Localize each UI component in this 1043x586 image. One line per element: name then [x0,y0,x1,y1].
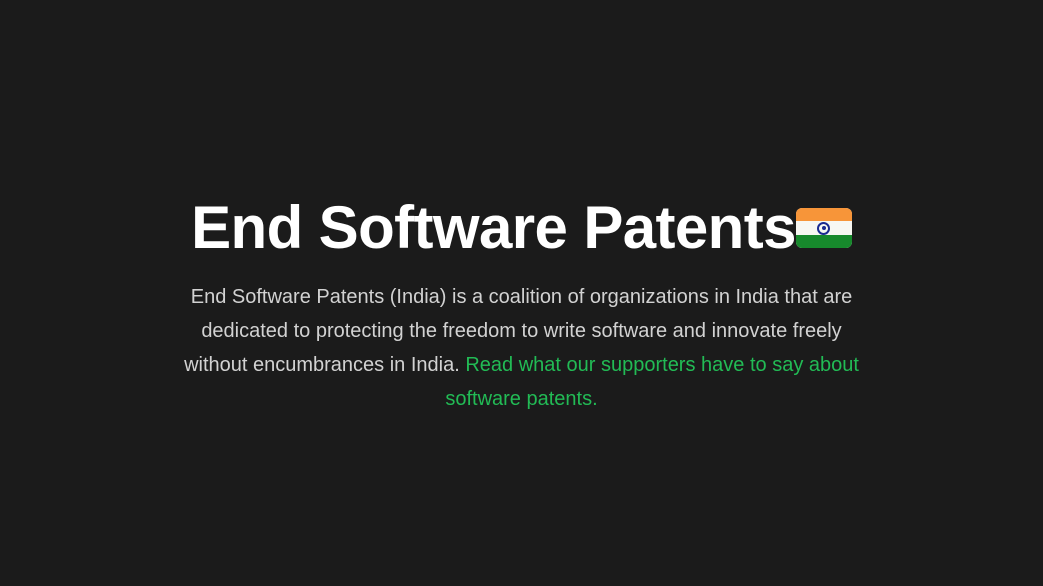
india-flag-icon [796,208,852,248]
ashoka-chakra-hub [822,226,826,230]
hero-content: End Software Patents End Software Patent… [182,196,862,416]
flag-band-green [796,235,852,248]
ashoka-chakra-icon [817,222,830,235]
hero-description: End Software Patents (India) is a coalit… [182,280,862,416]
page-title-text: End Software Patents [191,196,796,260]
hero-section: End Software Patents End Software Patent… [0,0,1043,586]
page-title: End Software Patents [182,196,862,260]
page-root: End Software Patents End Software Patent… [0,0,1043,586]
flag-band-saffron [796,208,852,221]
supporters-link[interactable]: Read what our supporters have to say abo… [445,354,859,410]
